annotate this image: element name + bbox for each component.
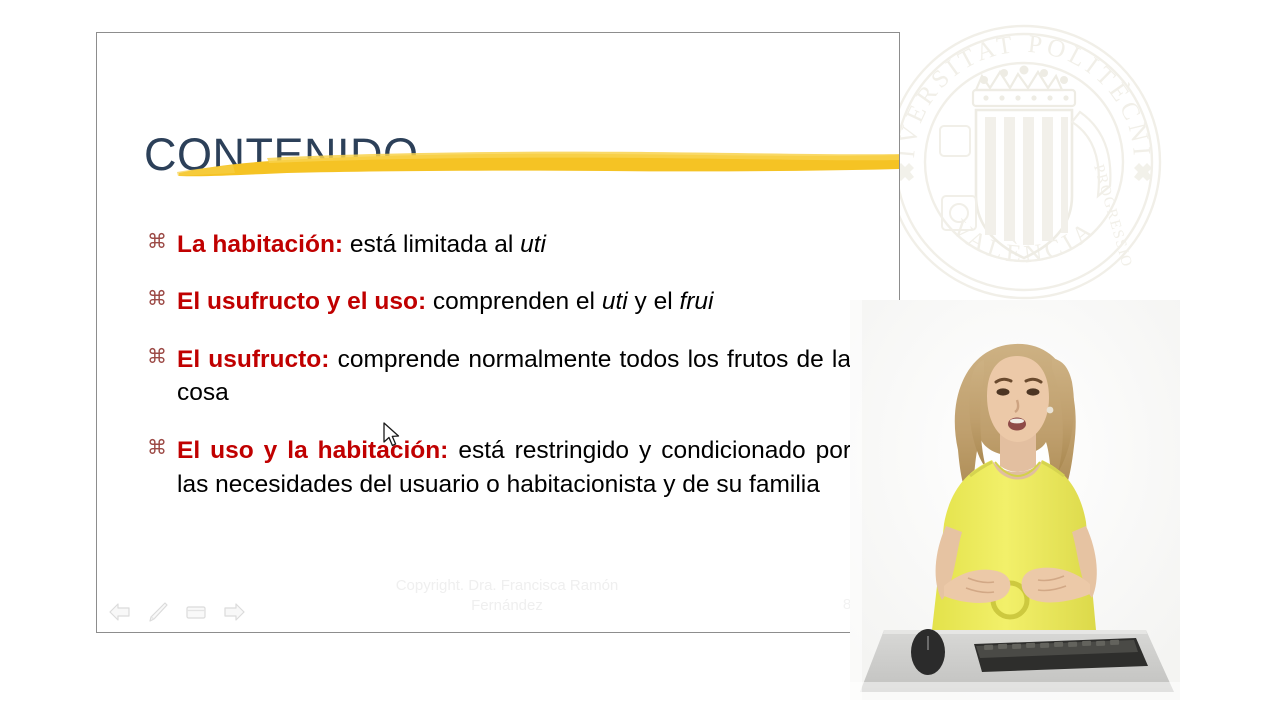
page-title: CONTENIDO [144, 131, 419, 178]
pen-tool-icon[interactable] [146, 600, 170, 624]
command-bullet-icon: ⌘ [147, 437, 167, 457]
computer-mouse [911, 629, 945, 675]
list-item: ⌘El uso y la habitación: está restringid… [145, 434, 851, 501]
next-slide-arrow-icon[interactable] [222, 600, 246, 624]
content-bullet-list: ⌘La habitación: está limitada al uti ⌘El… [145, 203, 851, 501]
list-item-text-b: y el [628, 288, 680, 315]
list-item-text: está limitada al [343, 231, 520, 258]
svg-text:PROGRESSIO: PROGRESSIO [1090, 163, 1135, 270]
list-item-lead: El uso y la habitación: [177, 437, 448, 464]
slide-menu-icon[interactable] [184, 600, 208, 624]
footer-copyright: Copyright. Dra. Francisca Ramón Fernánde… [317, 576, 697, 615]
presenter-video-overlay[interactable] [850, 300, 1180, 700]
list-item-lead: El usufructo y el uso: [177, 288, 426, 315]
list-item-lead: La habitación: [177, 231, 343, 258]
command-bullet-icon: ⌘ [147, 231, 167, 251]
list-item-lead: El usufructo: [177, 346, 329, 373]
list-item: ⌘El usufructo: comprende normalmente tod… [145, 343, 851, 410]
svg-text:VALÈNCIA: VALÈNCIA [946, 214, 1101, 268]
upv-seal-watermark-icon: UNIVERSITAT POLITÈCNICA VALÈNCIA [880, 18, 1168, 306]
svg-text:UNIVERSITAT POLITÈCNICA: UNIVERSITAT POLITÈCNICA [880, 18, 1155, 160]
presentation-nav-toolbar[interactable] [108, 600, 246, 624]
command-bullet-icon: ⌘ [147, 346, 167, 366]
presentation-stage: UNIVERSITAT POLITÈCNICA VALÈNCIA [0, 0, 1280, 720]
list-item-latin-term: uti [520, 231, 546, 258]
list-item: ⌘La habitación: está limitada al uti [145, 228, 851, 261]
list-item-text: comprenden el [426, 288, 602, 315]
list-item-latin-term-b: frui [679, 288, 713, 315]
slide-frame[interactable]: CONTENIDO ⌘La habitación: está limitada … [96, 32, 900, 633]
command-bullet-icon: ⌘ [147, 288, 167, 308]
copyright-line-1: Copyright. Dra. Francisca Ramón [317, 576, 697, 596]
list-item: ⌘El usufructo y el uso: comprenden el ut… [145, 285, 851, 318]
copyright-line-2: Fernández [317, 596, 697, 616]
computer-keyboard [974, 638, 1148, 672]
previous-slide-arrow-icon[interactable] [108, 600, 132, 624]
list-item-latin-term: uti [602, 288, 628, 315]
